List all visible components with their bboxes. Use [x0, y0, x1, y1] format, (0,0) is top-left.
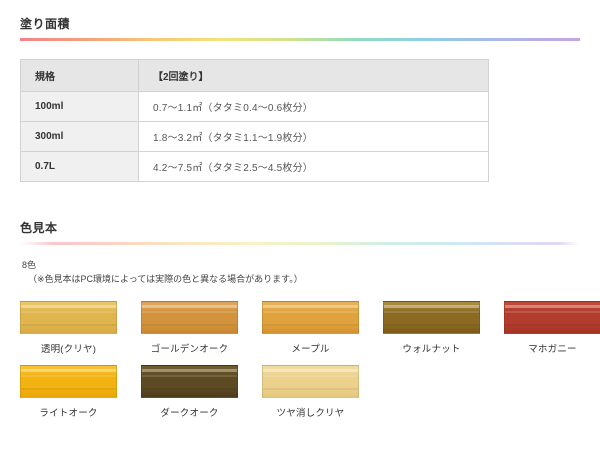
swatch-item-dark-oak[interactable]: ダークオーク	[141, 365, 238, 419]
table-header-row: 規格 【2回塗り】	[21, 60, 489, 92]
swatch-sheen	[142, 369, 237, 372]
swatch-item-golden-oak[interactable]: ゴールデンオーク	[141, 301, 238, 355]
coverage-table-body: 100ml 0.7〜1.1㎡（タタミ0.4〜0.6枚分） 300ml 1.8〜3…	[21, 92, 489, 182]
swatch-grain-dark	[505, 324, 600, 326]
swatch-grain-light	[142, 375, 237, 377]
swatch-sheen	[505, 305, 600, 308]
color-count-label: 8色	[20, 259, 580, 273]
cell-spec: 100ml	[21, 92, 139, 122]
swatch-label: 透明(クリヤ)	[41, 341, 96, 355]
swatch-item-clear[interactable]: 透明(クリヤ)	[20, 301, 117, 355]
table-row: 300ml 1.8〜3.2㎡（タタミ1.1〜1.9枚分）	[21, 122, 489, 152]
cell-spec: 300ml	[21, 122, 139, 152]
swatch-grain-light	[21, 311, 116, 313]
swatch-chip[interactable]	[20, 301, 117, 334]
swatch-sheen	[21, 305, 116, 308]
column-header-spec: 規格	[21, 60, 139, 92]
swatch-chip[interactable]	[262, 301, 359, 334]
swatch-chip[interactable]	[141, 301, 238, 334]
swatch-grain-light	[21, 375, 116, 377]
coverage-section: 塗り面積	[0, 0, 600, 41]
swatch-grain-dark	[21, 324, 116, 326]
swatch-grain-dark	[142, 388, 237, 390]
cell-coverage-value: 1.8〜3.2㎡（タタミ1.1〜1.9枚分）	[139, 122, 489, 152]
swatch-label: メープル	[291, 341, 329, 355]
cell-spec: 0.7L	[21, 152, 139, 182]
swatch-grain-dark	[384, 324, 479, 326]
swatch-grain-dark	[263, 324, 358, 326]
swatch-sheen	[263, 305, 358, 308]
cell-coverage-value: 4.2〜7.5㎡（タタミ2.5〜4.5枚分）	[139, 152, 489, 182]
swatch-sheen	[384, 305, 479, 308]
coverage-table-head: 規格 【2回塗り】	[21, 60, 489, 92]
swatch-label: ウォルナット	[402, 341, 460, 355]
cell-coverage-value: 0.7〜1.1㎡（タタミ0.4〜0.6枚分）	[139, 92, 489, 122]
page-root: 塗り面積 規格 【2回塗り】 100ml 0.7〜1.1㎡（タタミ0.4〜0.6…	[0, 0, 600, 450]
swatch-sheen	[142, 305, 237, 308]
swatch-chip[interactable]	[383, 301, 480, 334]
swatch-grain-dark	[21, 388, 116, 390]
swatch-item-maple[interactable]: メープル	[262, 301, 359, 355]
swatch-item-matte-clear[interactable]: ツヤ消しクリヤ	[262, 365, 359, 419]
table-row: 100ml 0.7〜1.1㎡（タタミ0.4〜0.6枚分）	[21, 92, 489, 122]
swatch-sheen	[263, 369, 358, 372]
swatch-chip[interactable]	[504, 301, 600, 334]
swatch-grain-light	[505, 311, 600, 313]
swatch-chip[interactable]	[20, 365, 117, 398]
color-swatch-grid: 透明(クリヤ) ゴールデンオーク メープル	[0, 287, 600, 419]
swatch-grain-light	[263, 311, 358, 313]
swatch-label: ダークオーク	[160, 405, 218, 419]
color-note: 8色 （※色見本はPC環境によっては実際の色と異なる場合があります。）	[0, 245, 600, 287]
swatch-grain-dark	[263, 388, 358, 390]
swatch-label: ツヤ消しクリヤ	[277, 405, 345, 419]
swatch-grain-light	[142, 311, 237, 313]
swatch-row-2: ライトオーク ダークオーク ツヤ消しクリヤ	[20, 365, 580, 419]
swatch-label: ライトオーク	[39, 405, 97, 419]
coverage-table-wrap: 規格 【2回塗り】 100ml 0.7〜1.1㎡（タタミ0.4〜0.6枚分） 3…	[0, 41, 600, 182]
swatch-grain-light	[263, 375, 358, 377]
coverage-table: 規格 【2回塗り】 100ml 0.7〜1.1㎡（タタミ0.4〜0.6枚分） 3…	[20, 59, 489, 182]
swatch-label: マホガニー	[528, 341, 577, 355]
color-disclaimer: （※色見本はPC環境によっては実際の色と異なる場合があります。）	[20, 273, 580, 287]
table-row: 0.7L 4.2〜7.5㎡（タタミ2.5〜4.5枚分）	[21, 152, 489, 182]
swatch-item-walnut[interactable]: ウォルナット	[383, 301, 480, 355]
coverage-section-heading: 塗り面積	[20, 0, 580, 38]
swatch-label: ゴールデンオーク	[151, 341, 229, 355]
swatch-item-light-oak[interactable]: ライトオーク	[20, 365, 117, 419]
color-section-heading: 色見本	[20, 204, 580, 242]
swatch-chip[interactable]	[262, 365, 359, 398]
swatch-row-1: 透明(クリヤ) ゴールデンオーク メープル	[20, 301, 580, 355]
swatch-grain-light	[384, 311, 479, 313]
color-section: 色見本	[0, 182, 600, 245]
swatch-item-mahogany[interactable]: マホガニー	[504, 301, 600, 355]
column-header-coats: 【2回塗り】	[139, 60, 489, 92]
swatch-chip[interactable]	[141, 365, 238, 398]
swatch-grain-dark	[142, 324, 237, 326]
swatch-sheen	[21, 369, 116, 372]
